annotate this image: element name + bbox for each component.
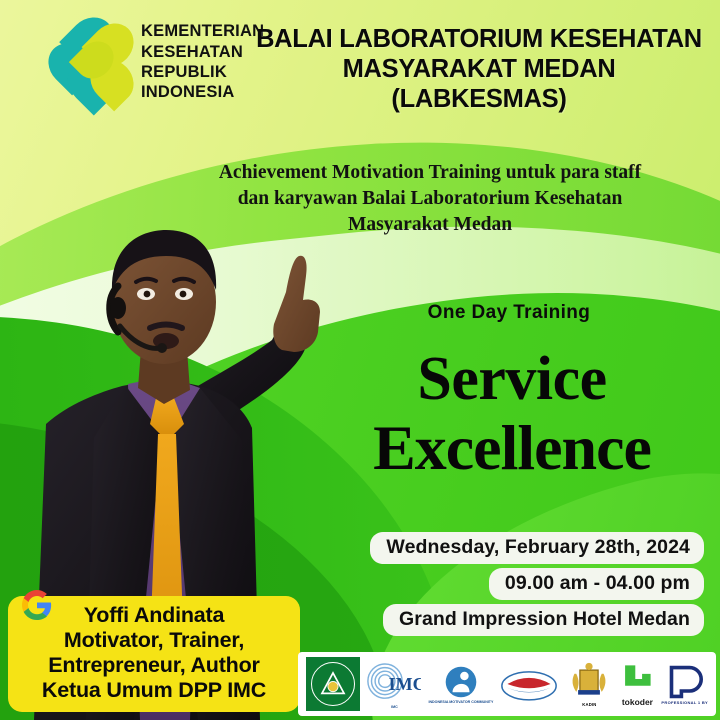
program-title-line-2: Excellence	[322, 416, 702, 480]
event-time: 09.00 am - 04.00 pm	[489, 568, 704, 600]
event-venue: Grand Impression Hotel Medan	[383, 604, 704, 636]
imc-caption: IMC	[391, 705, 398, 709]
speaker-name: Yoffi Andinata	[18, 603, 290, 628]
program-title-line-1: Service	[417, 345, 606, 413]
speaker-role-3: Ketua Umum DPP IMC	[18, 678, 290, 703]
sponsor-universitas-sumatera-utara-seal	[306, 657, 360, 711]
tokoder-caption: tokoder	[622, 697, 653, 707]
imc-rings-icon: IMC	[367, 660, 421, 704]
page-title: BALAI LABORATORIUM KESEHATAN MASYARAKAT …	[248, 24, 710, 114]
svg-text:IMC: IMC	[389, 674, 421, 694]
ministry-line-1: KEMENTERIAN	[141, 21, 264, 41]
ministry-name: KEMENTERIAN KESEHATAN REPUBLIK INDONESIA	[141, 21, 264, 102]
sponsor-blue-red-emblem	[500, 665, 558, 703]
sponsor-kadin-logo: KADIN	[565, 661, 613, 707]
professional-caption: PROFESSIONAL 1 BY	[661, 700, 708, 705]
ministry-logo-block: KEMENTERIAN KESEHATAN REPUBLIK INDONESIA	[44, 14, 264, 110]
google-g-icon	[22, 590, 52, 620]
seal-emblem-icon	[316, 667, 350, 701]
sponsor-tokoder-logo: tokoder	[620, 662, 654, 707]
ministry-line-4: INDONESIA	[141, 82, 264, 102]
motivator-caption: INDONESIA MOTIVATOR COMMUNITY	[428, 700, 493, 704]
title-line-3: (LABKESMAS)	[248, 84, 710, 114]
title-line-2: MASYARAKAT MEDAN	[343, 55, 616, 83]
kadin-crest-icon	[565, 661, 613, 701]
speaker-badge: Yoffi Andinata Motivator, Trainer, Entre…	[8, 596, 300, 712]
event-details: Wednesday, February 28th, 2024 09.00 am …	[370, 532, 704, 636]
sponsor-strip: IMC IMC INDONESIA MOTIVATOR COMMUNITY	[298, 652, 716, 716]
subtitle-line-2: dan karyawan Balai Laboratorium Kesehata…	[150, 186, 710, 212]
subtitle-line-1: Achievement Motivation Training untuk pa…	[150, 160, 710, 186]
event-date: Wednesday, February 28th, 2024	[370, 532, 704, 564]
training-poster: KEMENTERIAN KESEHATAN REPUBLIK INDONESIA…	[0, 0, 720, 720]
blue-red-emblem-icon	[500, 665, 558, 703]
title-line-1: BALAI LABORATORIUM KESEHATAN	[256, 25, 702, 53]
sponsor-indonesia-motivator-community: INDONESIA MOTIVATOR COMMUNITY	[428, 665, 493, 704]
ministry-line-2: KESEHATAN	[141, 42, 264, 62]
speaker-role-1: Motivator, Trainer,	[18, 628, 290, 653]
program-kicker: One Day Training	[344, 302, 674, 324]
kemenkes-logo-icon	[44, 14, 130, 110]
kadin-caption: KADIN	[582, 702, 596, 707]
tokoder-mark-icon	[620, 662, 654, 696]
sponsor-imc-logo: IMC IMC	[367, 660, 421, 709]
motivator-person-icon	[444, 665, 478, 699]
ministry-line-3: REPUBLIK	[141, 62, 264, 82]
sponsor-professional-logo: PROFESSIONAL 1 BY	[661, 664, 708, 705]
speaker-role-2: Entrepreneur, Author	[18, 653, 290, 678]
subtitle-block: Achievement Motivation Training untuk pa…	[150, 160, 710, 238]
program-title: Service Excellence	[322, 348, 702, 480]
professional-p-icon	[664, 664, 706, 700]
